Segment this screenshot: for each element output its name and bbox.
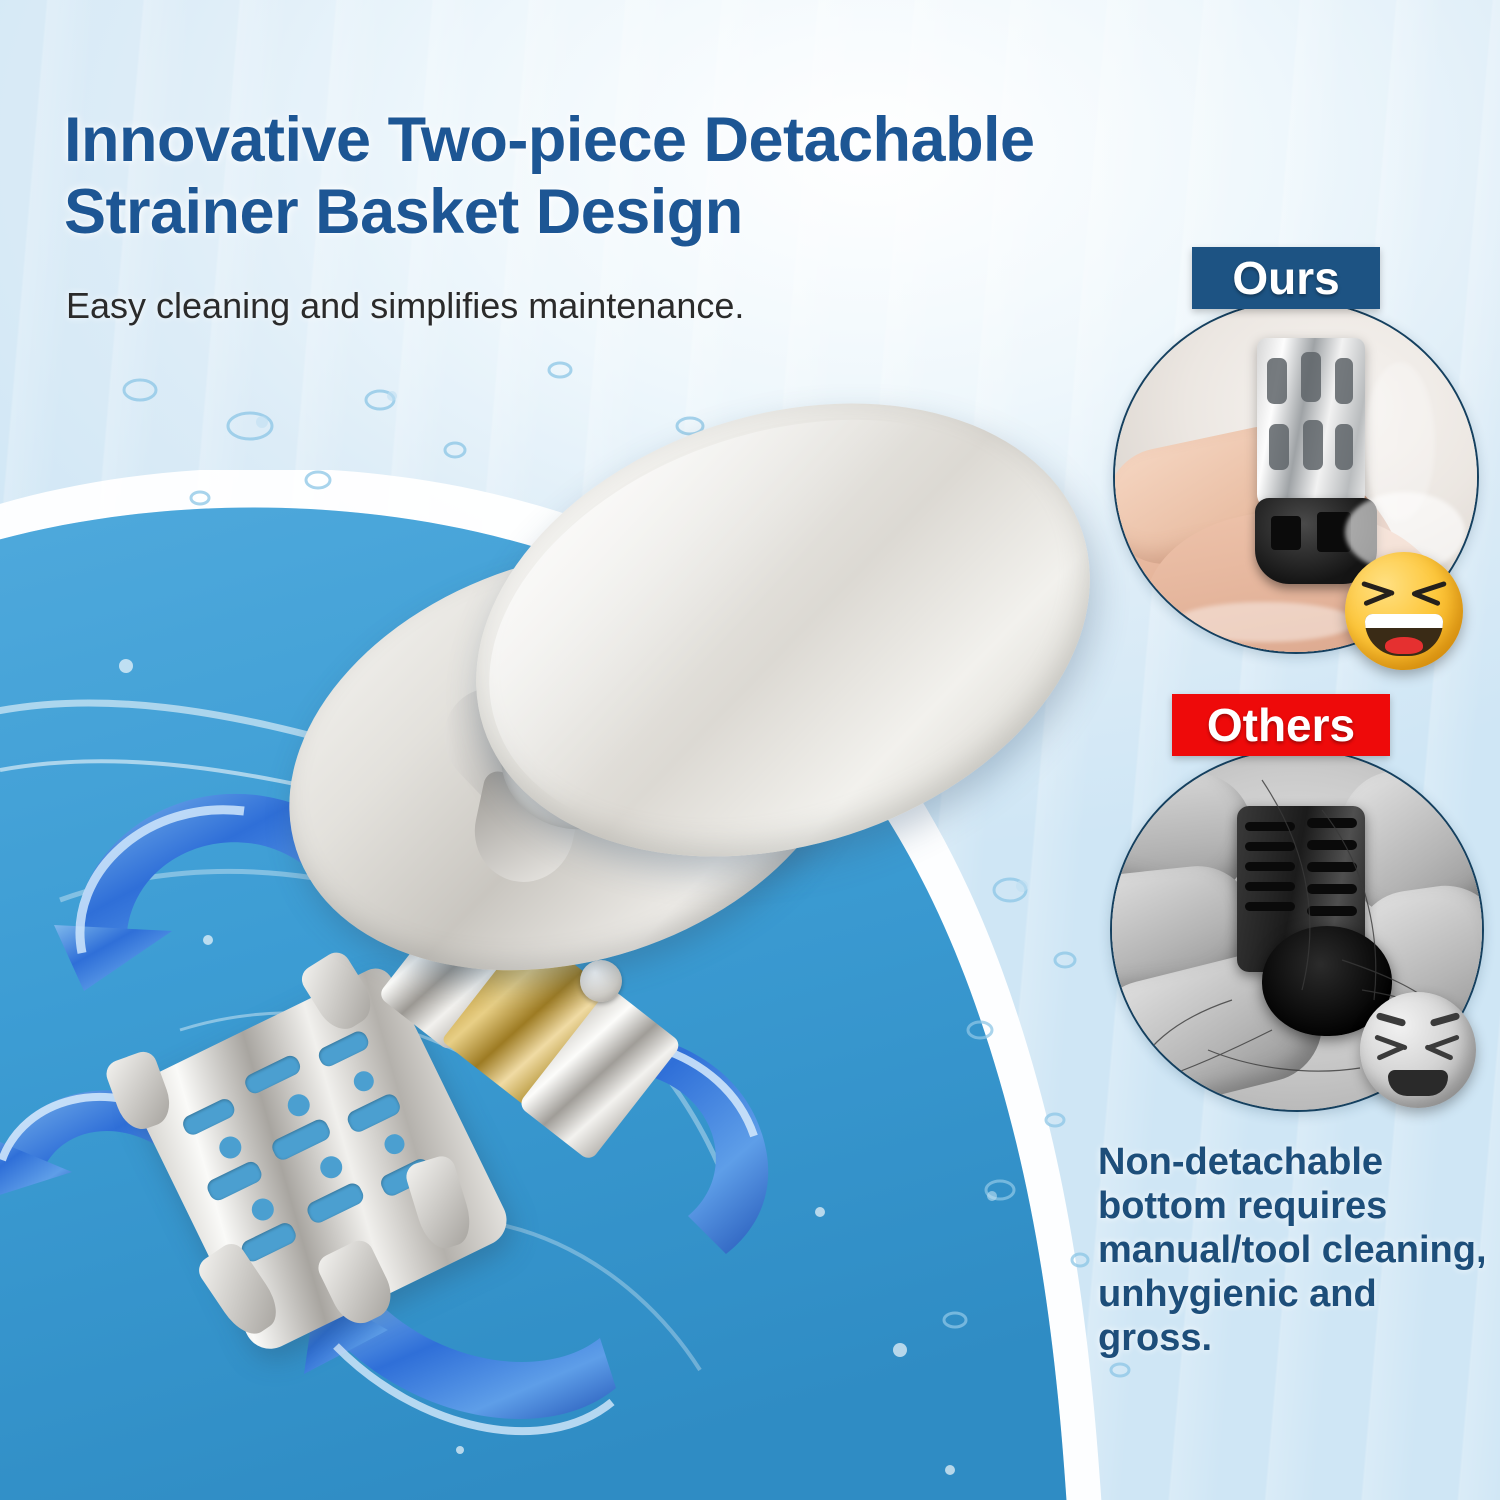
laughing-face-icon <box>1345 552 1463 670</box>
page-subtitle: Easy cleaning and simplifies maintenance… <box>66 284 966 328</box>
others-caption: Non-detachable bottom requires manual/to… <box>1098 1140 1490 1360</box>
infographic-canvas: Innovative Two-piece Detachable Strainer… <box>0 0 1500 1500</box>
stainless-basket-photo <box>1257 338 1365 510</box>
product-exploded-view <box>0 360 1120 1500</box>
weary-face-icon <box>1360 992 1476 1108</box>
locking-pin <box>580 960 622 1002</box>
badge-ours: Ours <box>1192 247 1380 309</box>
page-title: Innovative Two-piece Detachable Strainer… <box>64 104 1184 248</box>
badge-others: Others <box>1172 694 1390 756</box>
